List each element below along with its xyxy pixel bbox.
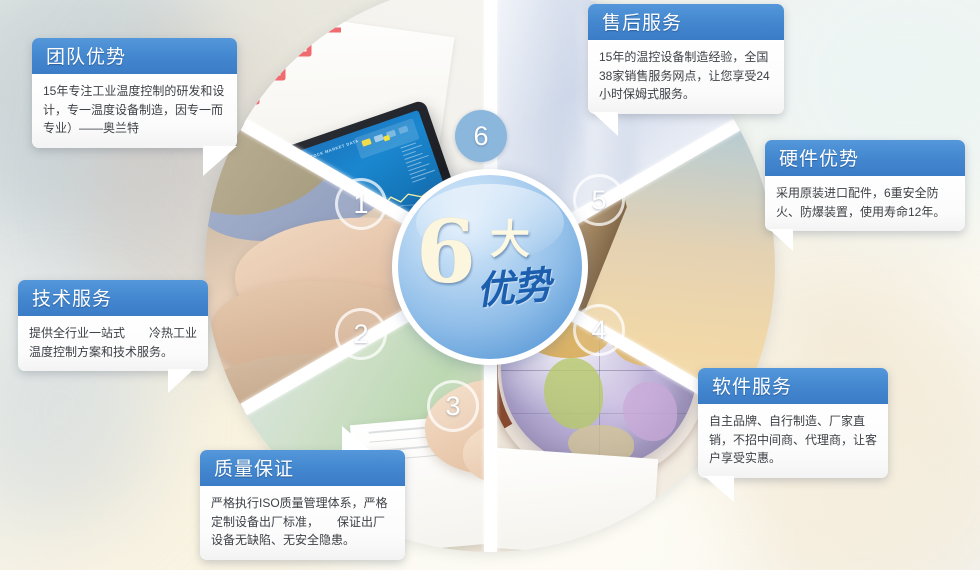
callout-title: 团队优势: [32, 38, 237, 74]
infographic-stage: STOCK MARKET DATA INTC NASDAQ REAL TIME …: [0, 0, 980, 570]
callout-aftersales[interactable]: 售后服务 15年的温控设备制造经验，全国38家销售服务网点，让您享受24小时保姆…: [588, 4, 784, 114]
callout-body: 采用原装进口配件，6重安全防火、防爆装置，使用寿命12年。: [765, 176, 965, 231]
callout-title: 技术服务: [18, 280, 208, 316]
callout-body: 15年的温控设备制造经验，全国38家销售服务网点，让您享受24小时保姆式服务。: [588, 40, 784, 114]
callout-tail: [168, 369, 194, 393]
callout-hardware[interactable]: 硬件优势 采用原装进口配件，6重安全防火、防爆装置，使用寿命12年。: [765, 140, 965, 231]
callout-body: 严格执行ISO质量管理体系，严格定制设备出厂标准， 保证出厂设备无缺陷、无安全隐…: [200, 486, 405, 560]
callout-tail: [769, 229, 793, 251]
center-badge: 6 大 优势: [392, 169, 588, 365]
callout-title: 质量保证: [200, 450, 405, 486]
callout-title: 软件服务: [698, 368, 888, 404]
marker-3[interactable]: 3: [427, 380, 479, 432]
callout-team[interactable]: 团队优势 15年专注工业温度控制的研发和设计，专一温度设备制造，因专一而专业）—…: [32, 38, 237, 148]
panel-chip: [398, 125, 408, 134]
callout-tail: [592, 112, 618, 136]
callout-software[interactable]: 软件服务 自主品牌、自行制造、厂家直销，不招中间商、代理商，让客户享受实惠。: [698, 368, 888, 478]
panel-chip: [374, 134, 384, 143]
fold: [485, 0, 565, 192]
marker-4[interactable]: 4: [573, 304, 625, 356]
callout-tail: [704, 476, 734, 502]
panel-chip: [361, 138, 371, 147]
marker-6[interactable]: 6: [455, 110, 507, 162]
callout-tech[interactable]: 技术服务 提供全行业一站式 冷热工业温度控制方案和技术服务。: [18, 280, 208, 371]
callout-quality[interactable]: 质量保证 严格执行ISO质量管理体系，严格定制设备出厂标准， 保证出厂设备无缺陷…: [200, 450, 405, 560]
callout-title: 硬件优势: [765, 140, 965, 176]
callout-tail: [342, 426, 370, 450]
callout-body: 提供全行业一站式 冷热工业温度控制方案和技术服务。: [18, 316, 208, 371]
center-badge-inner: 6 大 优势: [398, 175, 582, 359]
callout-tail: [203, 146, 237, 176]
callout-title: 售后服务: [588, 4, 784, 40]
center-label: 优势: [474, 254, 553, 315]
callout-body: 15年专注工业温度控制的研发和设计，专一温度设备制造，因专一而专业）——奥兰特: [32, 74, 237, 148]
marker-5[interactable]: 5: [573, 174, 625, 226]
landmass: [544, 358, 603, 429]
landmass: [623, 382, 678, 441]
marker-1[interactable]: 1: [335, 178, 387, 230]
callout-body: 自主品牌、自行制造、厂家直销，不招中间商、代理商，让客户享受实惠。: [698, 404, 888, 478]
marker-2[interactable]: 2: [335, 308, 387, 360]
center-number: 6: [416, 213, 476, 292]
